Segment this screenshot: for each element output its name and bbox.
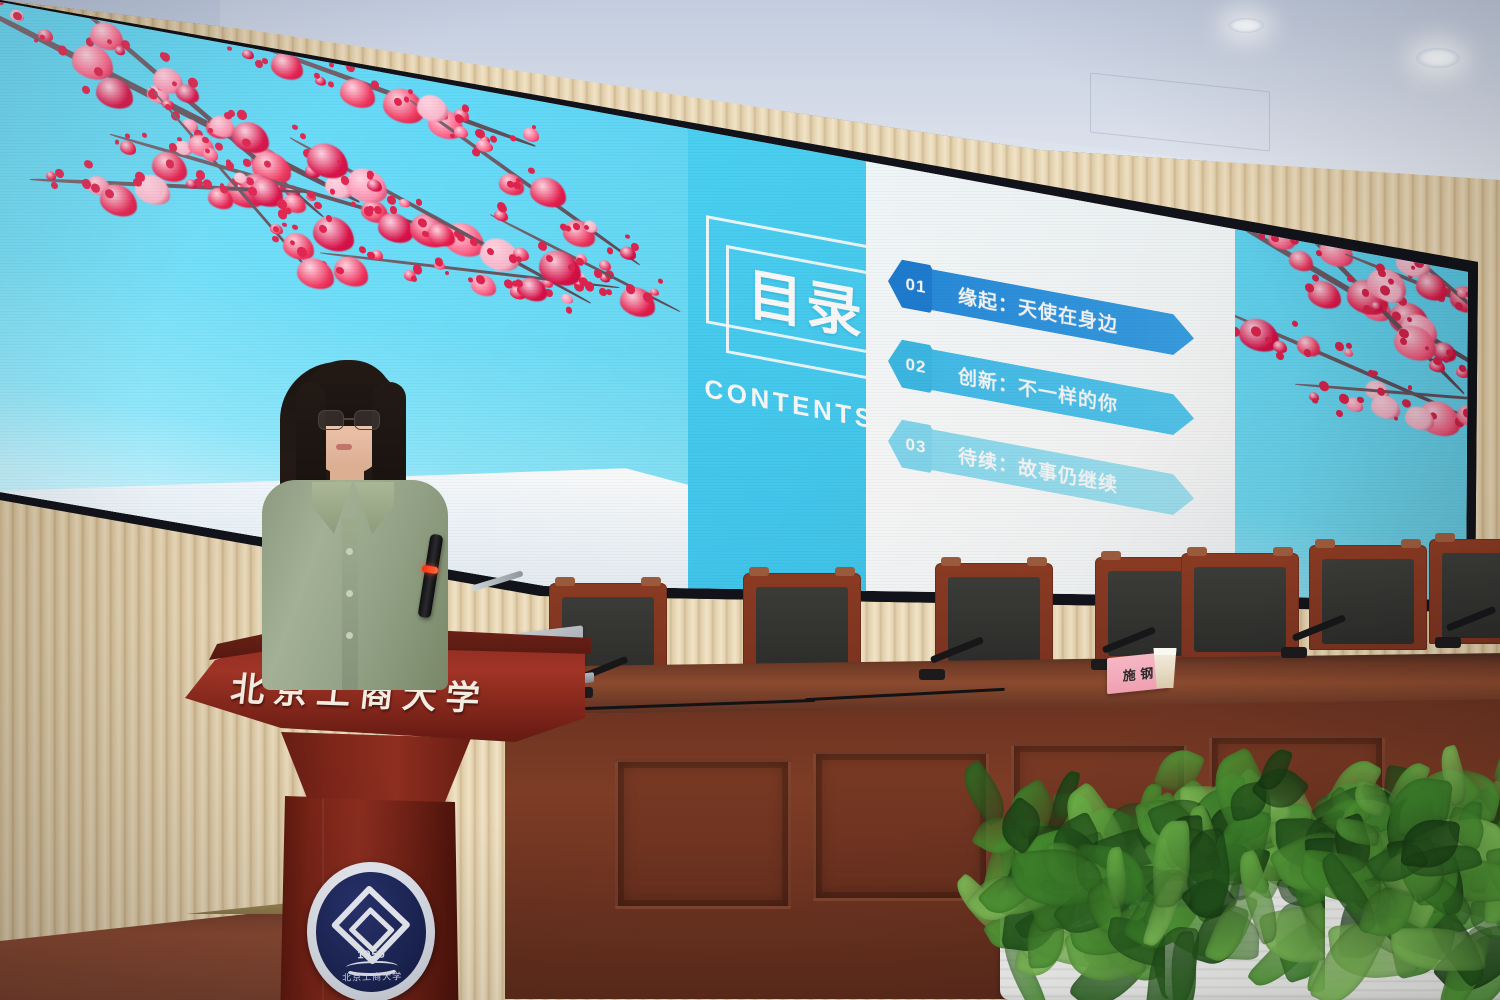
blossom-bud xyxy=(262,58,268,65)
blossom-bud xyxy=(215,142,223,151)
blossom-bud xyxy=(161,52,170,62)
blossom-bud xyxy=(1312,398,1318,405)
blossom-bud xyxy=(594,268,602,278)
blossom-bud xyxy=(326,215,332,222)
blossom-bud xyxy=(292,224,297,230)
blossom-bud xyxy=(507,181,513,189)
blossom-bud xyxy=(1443,357,1449,364)
blossom-bud xyxy=(435,257,443,267)
shirt-button xyxy=(346,632,353,639)
blossom-flower xyxy=(340,76,375,111)
blossom-bud xyxy=(203,179,212,189)
blossom-bud xyxy=(142,133,147,139)
blossom-flower xyxy=(378,211,413,246)
blossom-bud xyxy=(133,177,141,187)
lectern-neck xyxy=(245,732,495,802)
blossom-bud xyxy=(475,128,484,139)
blossom-bud xyxy=(1316,249,1322,256)
blossom-flower xyxy=(297,255,334,292)
table-front-panel xyxy=(615,759,791,909)
downlight-icon xyxy=(1416,48,1460,68)
blossom-bud xyxy=(82,178,92,189)
speaker xyxy=(262,352,462,682)
blossom-bud xyxy=(546,255,553,263)
blossom-bud xyxy=(297,246,307,257)
blossom-bud xyxy=(566,306,573,314)
blossom-flower xyxy=(313,213,354,254)
table-microphone-base xyxy=(919,669,945,680)
blossom-bud xyxy=(390,206,397,215)
blossom-bud xyxy=(290,240,295,246)
blossom-bud xyxy=(418,220,422,225)
blossom-bud xyxy=(510,135,516,142)
downlight-icon xyxy=(1228,18,1264,33)
blossom-bud xyxy=(371,80,378,89)
blossom-bud xyxy=(1402,398,1411,409)
blossom-flower xyxy=(1289,248,1313,273)
blossom-bud xyxy=(490,135,497,143)
blossom-bud xyxy=(387,195,396,205)
blossom-bud xyxy=(1319,380,1329,392)
blossom-bud xyxy=(658,279,663,284)
blossom-flower xyxy=(100,182,137,219)
blossom-bud xyxy=(277,199,287,211)
blossom-bud xyxy=(282,222,287,227)
blossom-bud xyxy=(367,172,373,180)
blossom-bud xyxy=(1407,316,1412,322)
blossom-flower xyxy=(1416,271,1447,302)
table-microphone-base xyxy=(1281,647,1307,658)
blossom-flower xyxy=(232,119,268,156)
blossom-bud xyxy=(1335,341,1344,351)
blossom-bud xyxy=(227,46,231,51)
blossom-bud xyxy=(643,292,653,303)
blossom-bud xyxy=(1394,416,1398,421)
blossom-bud xyxy=(82,85,90,94)
blossom-bud xyxy=(115,140,119,145)
blossom-bud xyxy=(476,275,484,285)
blossom-bud xyxy=(248,186,256,196)
blossom-bud xyxy=(40,34,45,40)
blossom-bud xyxy=(368,205,374,212)
blossom-bud xyxy=(538,241,547,251)
blossom-bud xyxy=(1235,326,1240,338)
blossom-bud xyxy=(455,114,463,124)
conference-hall-scene: 目录 CONTENTS 01 缘起：天使在身边 02 创新：不一样的你 03 xyxy=(0,0,1500,1000)
blossom-bud xyxy=(258,60,263,66)
blossom-bud xyxy=(528,167,534,174)
blossom-bud xyxy=(1459,365,1465,373)
blossom-bud xyxy=(34,38,38,43)
blossom-bud xyxy=(445,270,449,275)
blossom-flower xyxy=(399,198,410,209)
blossom-flower xyxy=(1344,348,1353,357)
blossom-bud xyxy=(272,235,279,243)
blossom-bud xyxy=(55,168,64,179)
potted-plant xyxy=(1325,748,1500,1000)
table-microphone-base xyxy=(1435,637,1461,648)
blossom-bud xyxy=(462,104,469,113)
blossom-bud xyxy=(125,134,129,139)
blossom-bud xyxy=(1336,409,1343,418)
blossom-bud xyxy=(243,158,250,167)
blossom-bud xyxy=(228,109,235,117)
blossom-bud xyxy=(573,223,579,230)
blossom-bud xyxy=(359,246,366,254)
glasses-icon xyxy=(318,410,380,430)
shirt-button xyxy=(346,590,353,597)
blossom-flower xyxy=(417,93,448,124)
blossom-bud xyxy=(300,133,306,140)
mouth xyxy=(336,444,352,450)
conference-chair[interactable] xyxy=(1309,545,1427,650)
blossom-bud xyxy=(367,251,374,260)
blossom-bud xyxy=(1305,283,1314,293)
blossom-flower xyxy=(242,49,254,61)
toc-item-label: 待续：故事仍继续 xyxy=(932,429,1194,519)
blossom-bud xyxy=(404,96,409,102)
shirt-placket xyxy=(342,518,358,690)
blossom-bud xyxy=(202,136,208,143)
blossom-bud xyxy=(237,109,246,120)
blossom-bud xyxy=(51,182,58,190)
blossom-bud xyxy=(292,124,298,131)
blossom-bud xyxy=(1347,275,1353,283)
blossom-bud xyxy=(1455,302,1463,312)
blossom-bud xyxy=(413,264,422,275)
blossom-bud xyxy=(1276,351,1284,360)
blossom-bud xyxy=(607,247,614,255)
blossom-bud xyxy=(606,289,612,296)
blossom-bud xyxy=(58,45,67,56)
blossom-bud xyxy=(625,234,629,239)
blossom-bud xyxy=(84,160,92,170)
blossom-bud xyxy=(169,143,177,153)
blossom-bud xyxy=(560,223,567,231)
blossom-bud xyxy=(121,39,130,50)
conference-chair[interactable] xyxy=(743,573,861,678)
blossom-bud xyxy=(1408,385,1413,391)
blossom-bud xyxy=(328,81,334,88)
blossom-flower xyxy=(530,174,566,210)
blossom-bud xyxy=(472,148,480,157)
conference-chair[interactable] xyxy=(1181,553,1299,658)
conference-chair[interactable] xyxy=(1429,539,1500,644)
blossom-flower xyxy=(561,293,572,304)
blossom-bud xyxy=(314,73,320,80)
blossom-bud xyxy=(1292,320,1298,327)
blossom-bud xyxy=(208,128,213,133)
shirt-button xyxy=(346,548,353,555)
blossom-bud xyxy=(1339,393,1349,405)
toc-item-label: 创新：不一样的你 xyxy=(932,349,1194,439)
